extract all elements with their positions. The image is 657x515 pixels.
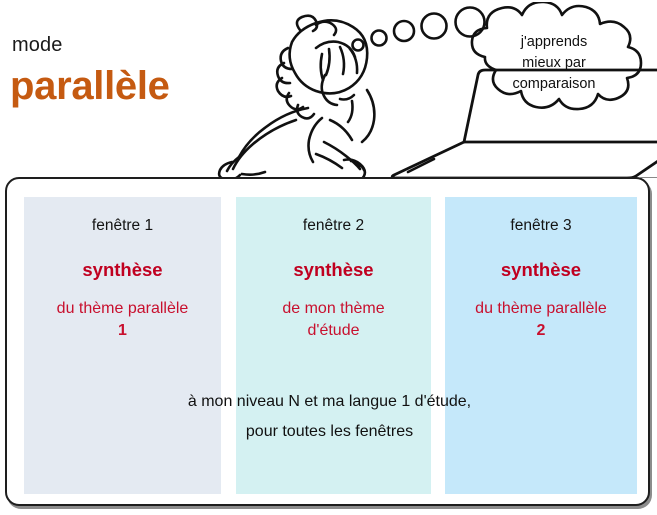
column-1-desc-line-1: du thème parallèle — [57, 300, 189, 317]
column-1-description: du thème parallèle 1 — [24, 298, 221, 342]
window-column-1[interactable]: fenêtre 1 synthèse du thème parallèle 1 — [24, 197, 221, 494]
column-3-header: fenêtre 3 — [445, 217, 637, 236]
header: mode parallèle — [0, 0, 657, 178]
column-1-desc-line-2: 1 — [118, 322, 127, 339]
windows-card: fenêtre 1 synthèse du thème parallèle 1 … — [5, 177, 650, 506]
column-2-description: de mon thème d'étude — [236, 298, 431, 342]
bubble-line-3: comparaison — [470, 74, 638, 95]
column-3-desc-line-2: 2 — [537, 322, 546, 339]
window-column-2[interactable]: fenêtre 2 synthèse de mon thème d'étude — [236, 197, 431, 494]
thought-bubble-text: j'apprends mieux par comparaison — [470, 32, 638, 95]
column-3-description: du thème parallèle 2 — [445, 298, 637, 342]
column-2-desc-line-1: de mon thème — [282, 300, 384, 317]
mode-label: mode — [12, 34, 62, 57]
window-column-3[interactable]: fenêtre 3 synthèse du thème parallèle 2 — [445, 197, 637, 494]
column-1-header: fenêtre 1 — [24, 217, 221, 236]
column-3-synthese: synthèse — [445, 259, 637, 281]
bubble-line-2: mieux par — [470, 53, 638, 74]
bubble-line-1: j'apprends — [470, 32, 638, 53]
page-title: parallèle — [10, 66, 170, 106]
column-2-desc-line-2: d'étude — [308, 322, 360, 339]
column-2-synthese: synthèse — [236, 259, 431, 281]
column-3-desc-line-1: du thème parallèle — [475, 300, 607, 317]
column-1-synthese: synthèse — [24, 259, 221, 281]
column-2-header: fenêtre 2 — [236, 217, 431, 236]
